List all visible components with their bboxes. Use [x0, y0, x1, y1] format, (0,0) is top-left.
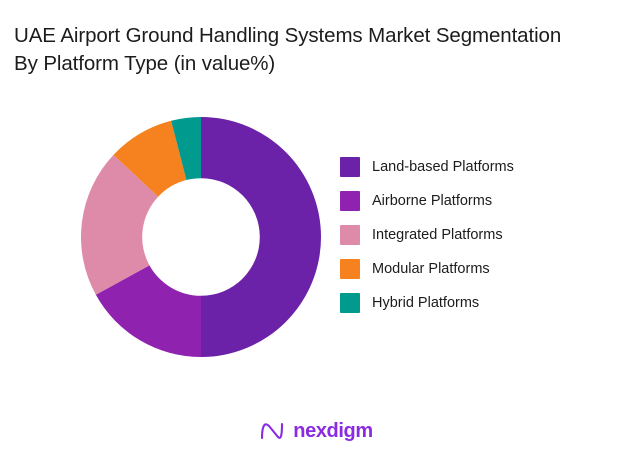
page-title-line-1: UAE Airport Ground Handling Systems Mark…	[14, 22, 614, 50]
legend-item[interactable]: Airborne Platforms	[340, 184, 580, 218]
donut-chart-svg	[81, 117, 321, 357]
page-title-line-2: By Platform Type (in value%)	[14, 50, 614, 78]
donut-slice-group	[81, 117, 321, 357]
legend-item-label: Airborne Platforms	[372, 194, 492, 209]
chart-legend: Land-based PlatformsAirborne PlatformsIn…	[340, 150, 580, 320]
legend-item-label: Integrated Platforms	[372, 228, 503, 243]
legend-item[interactable]: Integrated Platforms	[340, 218, 580, 252]
legend-color-swatch	[340, 157, 360, 177]
legend-color-swatch	[340, 225, 360, 245]
nexdigm-wave-mark-icon	[259, 419, 285, 443]
legend-item-label: Land-based Platforms	[372, 160, 514, 175]
legend-color-swatch	[340, 293, 360, 313]
legend-color-swatch	[340, 259, 360, 279]
legend-item-label: Modular Platforms	[372, 262, 490, 277]
chart-area: Land-based PlatformsAirborne PlatformsIn…	[0, 95, 632, 380]
legend-item-label: Hybrid Platforms	[372, 296, 479, 311]
page-title: UAE Airport Ground Handling Systems Mark…	[14, 22, 614, 78]
donut-chart	[81, 117, 321, 357]
legend-item[interactable]: Modular Platforms	[340, 252, 580, 286]
legend-item[interactable]: Land-based Platforms	[340, 150, 580, 184]
donut-slice[interactable]	[201, 117, 321, 357]
legend-color-swatch	[340, 191, 360, 211]
footer-brand-logo: nexdigm	[0, 419, 632, 443]
legend-item[interactable]: Hybrid Platforms	[340, 286, 580, 320]
brand-name: nexdigm	[293, 421, 372, 441]
